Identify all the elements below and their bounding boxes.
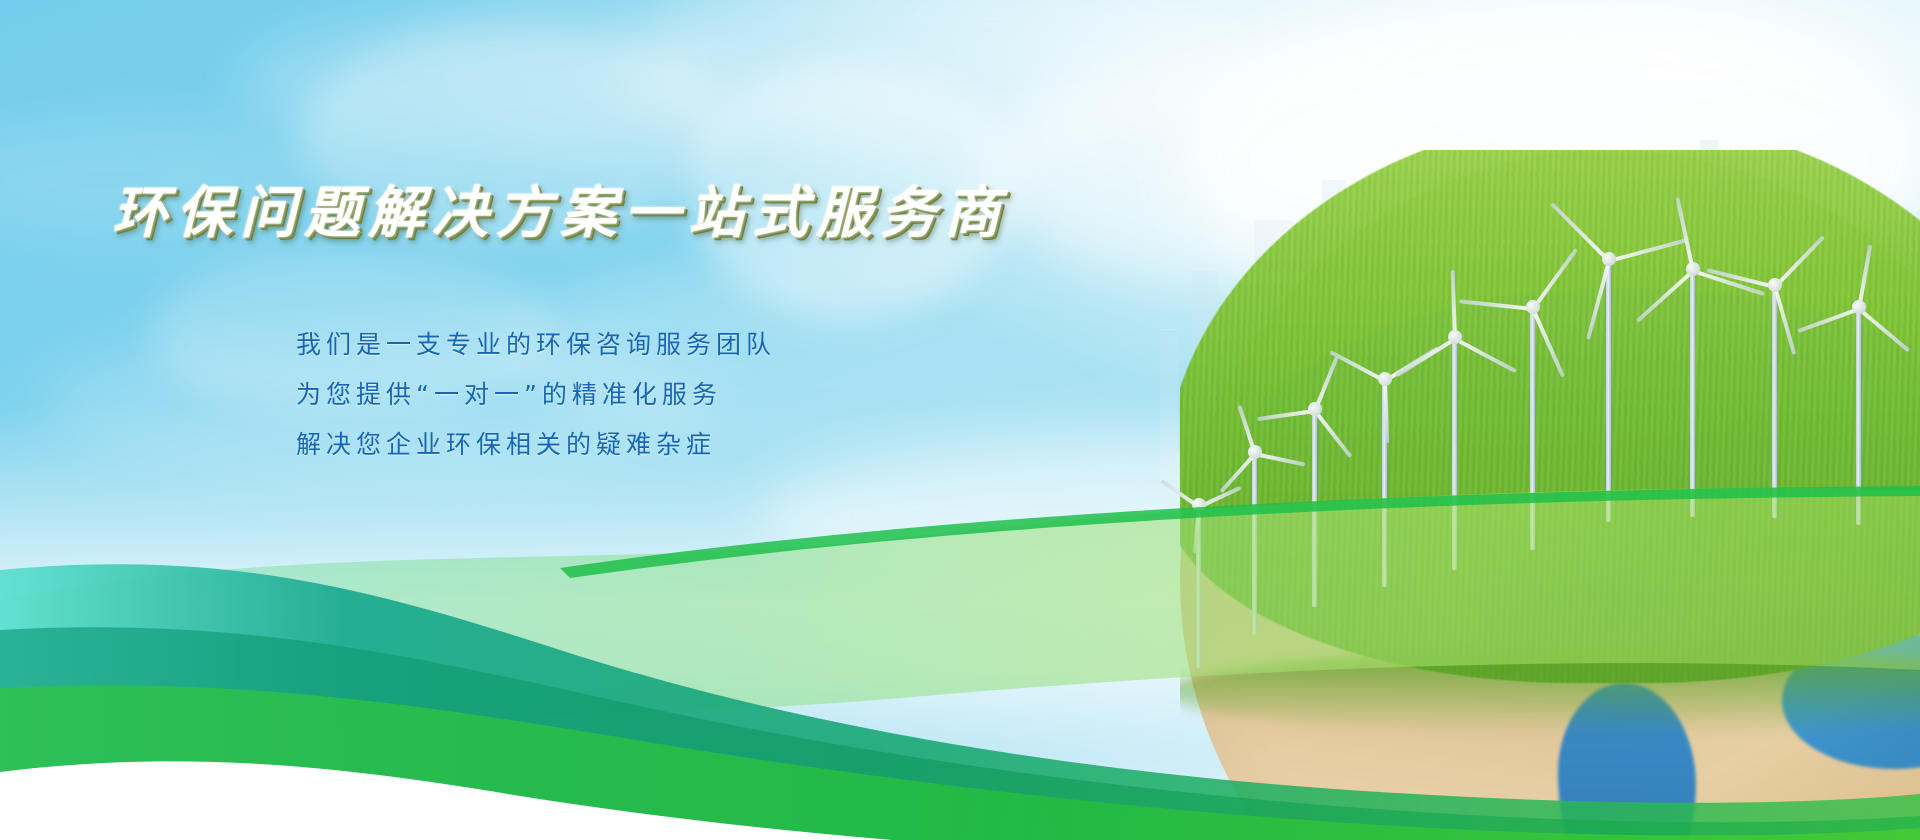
turbine-hub [1526, 300, 1540, 314]
page-title: 环保问题解决方案一站式服务商 [112, 168, 1008, 249]
turbine-hub [1448, 330, 1462, 344]
turbine-hub [1852, 300, 1866, 314]
eco-banner: 环保问题解决方案一站式服务商 我们是一支专业的环保咨询服务团队 为您提供“一对一… [0, 0, 1920, 840]
wave-svg [0, 420, 1920, 840]
green-wave-ribbons [0, 420, 1920, 840]
subtitle-line-2: 为您提供“一对一”的精准化服务 [296, 370, 776, 420]
turbine-hub [1602, 252, 1616, 266]
turbine-hub [1768, 278, 1782, 292]
turbine-hub [1686, 262, 1700, 276]
turbine-hub [1308, 402, 1322, 416]
subtitle-line-1: 我们是一支专业的环保咨询服务团队 [296, 320, 776, 370]
turbine-hub [1378, 372, 1392, 386]
